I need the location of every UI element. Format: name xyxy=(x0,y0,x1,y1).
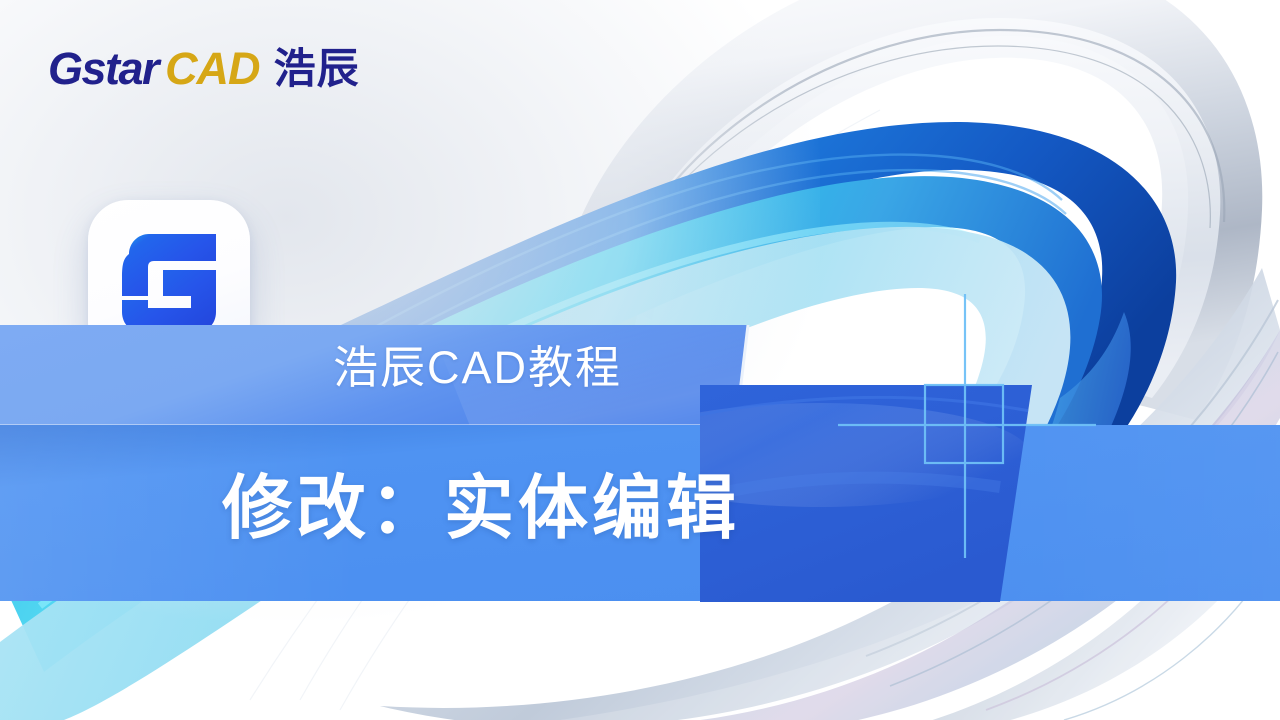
banner-subtitle: 浩辰CAD教程 xyxy=(333,345,622,390)
title-card: Gstar CAD 浩辰 xyxy=(0,0,1280,720)
cad-crosshair-cursor xyxy=(0,0,1280,720)
banner-title: 修改：实体编辑 xyxy=(222,473,740,543)
